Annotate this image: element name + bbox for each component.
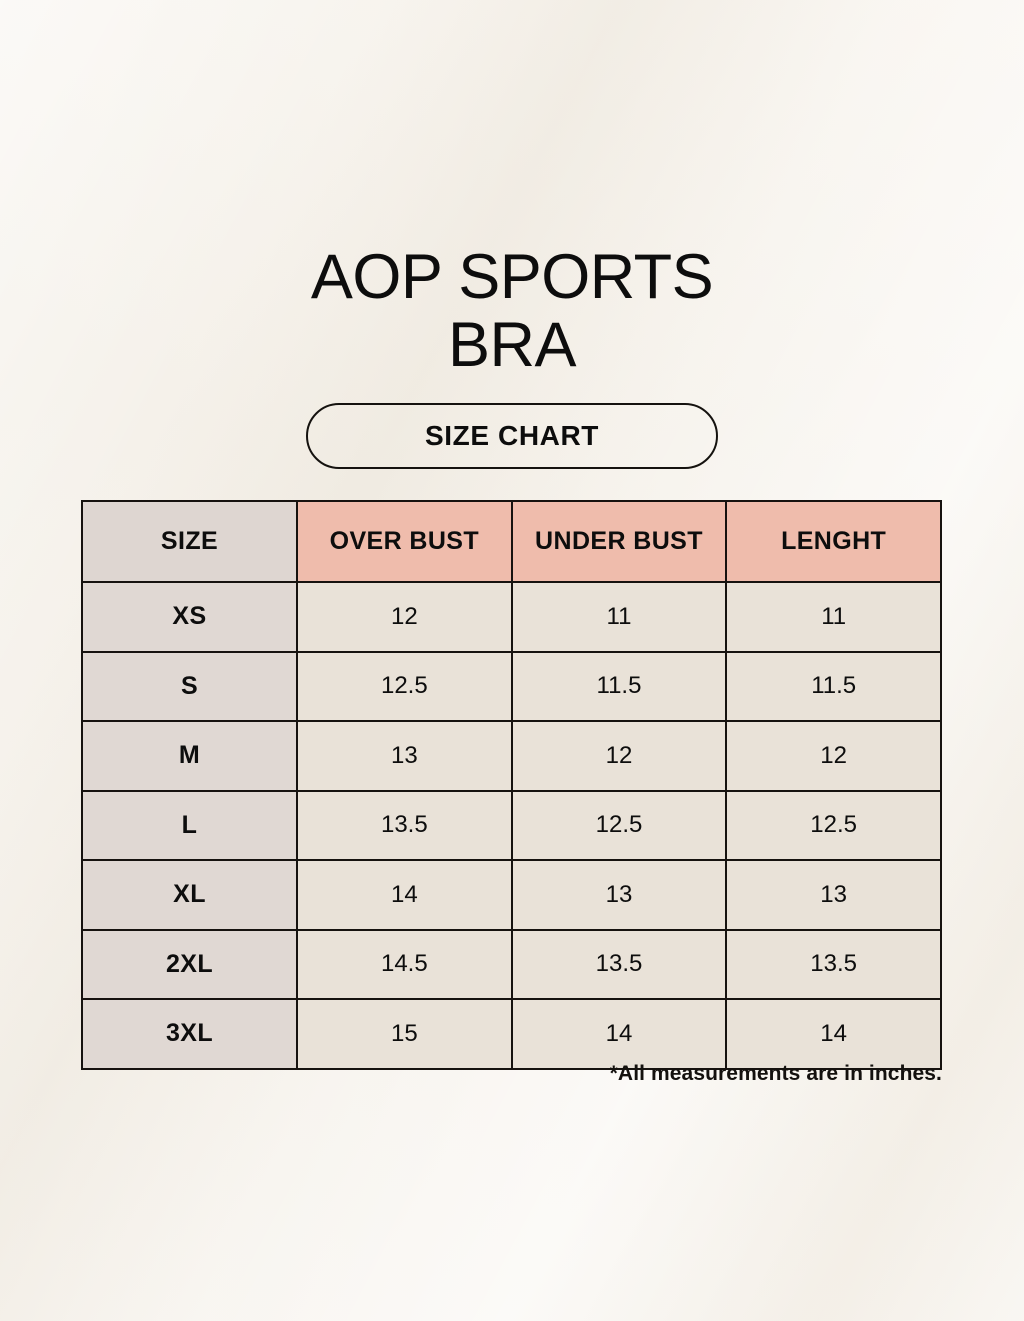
table-row: L13.512.512.5 <box>82 791 941 861</box>
size-label-cell: S <box>82 652 297 722</box>
measurement-cell: 12.5 <box>512 791 727 861</box>
measurement-cell: 14 <box>726 999 941 1069</box>
size-label-cell: M <box>82 721 297 791</box>
table-row: XS121111 <box>82 582 941 652</box>
measurement-cell: 14 <box>512 999 727 1069</box>
size-label-cell: L <box>82 791 297 861</box>
measurement-cell: 11 <box>726 582 941 652</box>
measurement-cell: 14.5 <box>297 930 512 1000</box>
measurement-cell: 12 <box>297 582 512 652</box>
table-column-header: OVER BUST <box>297 501 512 582</box>
size-label-cell: 2XL <box>82 930 297 1000</box>
size-table-body: XS121111S12.511.511.5M131212L13.512.512.… <box>82 582 941 1069</box>
measurement-cell: 13.5 <box>297 791 512 861</box>
table-column-header: UNDER BUST <box>512 501 727 582</box>
table-row: S12.511.511.5 <box>82 652 941 722</box>
table-header-row: SIZEOVER BUSTUNDER BUSTLENGHT <box>82 501 941 582</box>
size-label-cell: XS <box>82 582 297 652</box>
measurement-cell: 13 <box>726 860 941 930</box>
page-title: AOP SPORTS BRA <box>0 243 1024 379</box>
measurement-cell: 11 <box>512 582 727 652</box>
measurement-cell: 14 <box>297 860 512 930</box>
size-label-cell: XL <box>82 860 297 930</box>
measurement-cell: 12 <box>512 721 727 791</box>
table-row: 3XL151414 <box>82 999 941 1069</box>
measurement-cell: 15 <box>297 999 512 1069</box>
measurement-cell: 11.5 <box>726 652 941 722</box>
size-chart-badge: SIZE CHART <box>306 403 718 469</box>
table-column-header: LENGHT <box>726 501 941 582</box>
size-chart-badge-container: SIZE CHART <box>0 403 1024 469</box>
size-table-head: SIZEOVER BUSTUNDER BUSTLENGHT <box>82 501 941 582</box>
measurement-cell: 13.5 <box>512 930 727 1000</box>
measurement-cell: 11.5 <box>512 652 727 722</box>
measurement-cell: 12.5 <box>297 652 512 722</box>
size-chart-page: AOP SPORTS BRA SIZE CHART SIZEOVER BUSTU… <box>0 0 1024 1321</box>
measurement-cell: 13 <box>297 721 512 791</box>
table-row: 2XL14.513.513.5 <box>82 930 941 1000</box>
measurement-cell: 13 <box>512 860 727 930</box>
measurements-note: *All measurements are in inches. <box>81 1062 942 1086</box>
table-row: M131212 <box>82 721 941 791</box>
table-column-header: SIZE <box>82 501 297 582</box>
table-row: XL141313 <box>82 860 941 930</box>
size-label-cell: 3XL <box>82 999 297 1069</box>
measurement-cell: 13.5 <box>726 930 941 1000</box>
size-table: SIZEOVER BUSTUNDER BUSTLENGHT XS121111S1… <box>81 500 942 1070</box>
size-table-container: SIZEOVER BUSTUNDER BUSTLENGHT XS121111S1… <box>81 500 942 1070</box>
measurement-cell: 12 <box>726 721 941 791</box>
measurement-cell: 12.5 <box>726 791 941 861</box>
